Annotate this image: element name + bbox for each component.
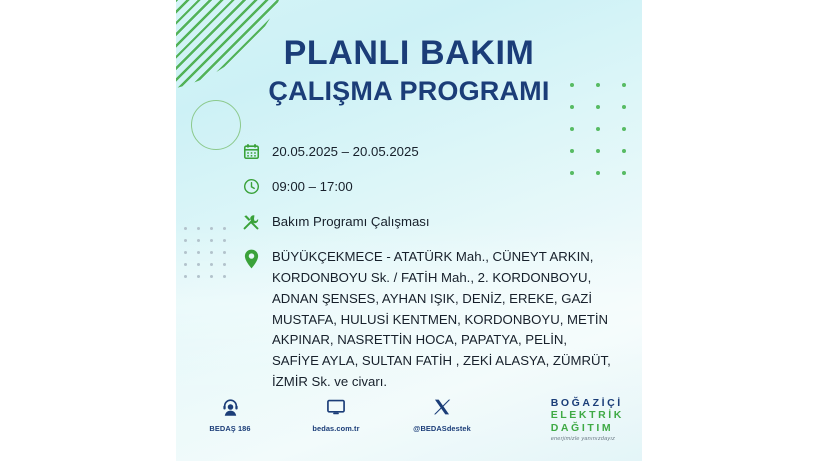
info-row-date: 20.05.2025 – 20.05.2025 — [238, 142, 618, 165]
date-range-text: 20.05.2025 – 20.05.2025 — [264, 142, 419, 162]
x-twitter-icon — [433, 395, 451, 419]
poster-page: PLANLI BAKIM ÇALIŞMA PROGRAMI — [0, 0, 820, 461]
contact-phone[interactable]: BEDAŞ 186 — [194, 395, 266, 433]
contact-twitter-label: @BEDASdestek — [413, 424, 471, 433]
info-list: 20.05.2025 – 20.05.2025 09:00 – 17:00 — [238, 142, 618, 393]
work-type-text: Bakım Programı Çalışması — [264, 212, 430, 232]
announcement-card: PLANLI BAKIM ÇALIŞMA PROGRAMI — [176, 0, 642, 461]
info-row-time: 09:00 – 17:00 — [238, 177, 618, 200]
dot-grid-left-decoration — [184, 227, 226, 278]
contact-website-label: bedas.com.tr — [312, 424, 359, 433]
poster-footer: BEDAŞ 186 bedas.com.tr — [176, 395, 642, 451]
clock-icon — [238, 177, 264, 200]
contact-list: BEDAŞ 186 bedas.com.tr — [194, 395, 478, 433]
brand-logo: BOĞAZİÇİ ELEKTRİK DAĞITIM enerjimizle ya… — [551, 397, 624, 442]
calendar-icon — [238, 142, 264, 165]
page-subtitle: ÇALIŞMA PROGRAMI — [176, 76, 642, 106]
circle-outline-decoration — [191, 100, 241, 150]
info-row-address: BÜYÜKÇEKMECE - ATATÜRK Mah., CÜNEYT ARKI… — [238, 247, 618, 393]
brand-line-3: DAĞITIM — [551, 422, 624, 434]
contact-twitter[interactable]: @BEDASdestek — [406, 395, 478, 433]
support-agent-icon — [221, 395, 240, 419]
address-text: BÜYÜKÇEKMECE - ATATÜRK Mah., CÜNEYT ARKI… — [264, 247, 612, 393]
page-title: PLANLI BAKIM — [176, 36, 642, 72]
tools-icon — [238, 212, 264, 235]
time-range-text: 09:00 – 17:00 — [264, 177, 353, 197]
contact-website[interactable]: bedas.com.tr — [300, 395, 372, 433]
info-row-worktype: Bakım Programı Çalışması — [238, 212, 618, 235]
poster-heading: PLANLI BAKIM ÇALIŞMA PROGRAMI — [176, 36, 642, 106]
brand-line-1: BOĞAZİÇİ — [551, 397, 624, 409]
map-pin-icon — [238, 247, 264, 271]
monitor-icon — [326, 395, 346, 419]
brand-tagline: enerjimizle yanınızdayız — [551, 436, 624, 442]
brand-line-2: ELEKTRİK — [551, 409, 624, 421]
contact-phone-label: BEDAŞ 186 — [209, 424, 250, 433]
